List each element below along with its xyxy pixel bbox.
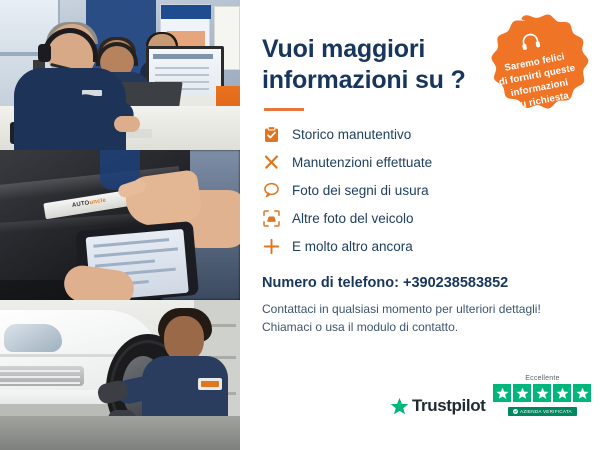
trustpilot-rating: Eccellente AZIENDA VERIFICATA <box>493 375 591 416</box>
star-filled <box>533 384 551 402</box>
scan-vehicle-icon <box>262 209 280 227</box>
feature-label: Foto dei segni di usura <box>292 183 429 198</box>
star-filled <box>513 384 531 402</box>
person-foreground <box>14 24 126 150</box>
contact-line-1: Contattaci in qualsiasi momento per ulte… <box>262 300 578 318</box>
clipboard-check-icon <box>262 125 280 143</box>
promo-card: AUTOuncle <box>0 0 600 450</box>
feature-label: Altre foto del veicolo <box>292 211 414 226</box>
feature-label: Storico manutentivo <box>292 127 411 142</box>
tools-cross-icon <box>262 153 280 171</box>
verified-label: AZIENDA VERIFICATA <box>520 409 572 414</box>
photo-call-center <box>0 0 240 150</box>
title-divider <box>264 108 304 111</box>
photo-wheel-check <box>0 300 240 450</box>
feature-label: Manutenzioni effettuate <box>292 155 432 170</box>
speech-bubble-icon <box>262 181 280 199</box>
list-item: E molto altro ancora <box>262 237 578 255</box>
trustpilot-name: Trustpilot <box>412 396 485 416</box>
trustpilot-logo: Trustpilot <box>390 396 485 416</box>
star-filled <box>573 384 591 402</box>
list-item: Manutenzioni effettuate <box>262 153 578 171</box>
content-panel: Vuoi maggiori informazioni su ? Storico … <box>240 0 600 450</box>
star-rating <box>493 384 591 402</box>
page-title: Vuoi maggiori informazioni su ? <box>262 34 477 95</box>
photo-column: AUTOuncle <box>0 0 240 450</box>
feature-list: Storico manutentivo Manutenzioni effettu… <box>262 125 578 255</box>
star-filled <box>493 384 511 402</box>
verified-badge: AZIENDA VERIFICATA <box>508 407 577 416</box>
trustpilot-star-icon <box>390 397 409 416</box>
lift-decor <box>0 416 240 450</box>
trustpilot-widget[interactable]: Trustpilot Eccellente AZIENDA VERIFICATA <box>390 375 591 416</box>
list-item: Foto dei segni di usura <box>262 181 578 199</box>
feature-label: E molto altro ancora <box>292 239 413 254</box>
rating-label: Eccellente <box>525 375 559 382</box>
photo-vehicle-inspection: AUTOuncle <box>0 150 240 300</box>
contact-line-2: Chiamaci o usa il modulo di contatto. <box>262 318 578 336</box>
plus-icon <box>262 237 280 255</box>
phone-number[interactable]: Numero di telefono: +390238583852 <box>262 275 578 291</box>
list-item: Altre foto del veicolo <box>262 209 578 227</box>
promo-badge: Saremo felici di fornirti queste informa… <box>468 2 600 138</box>
check-circle-icon <box>513 409 518 414</box>
star-filled <box>553 384 571 402</box>
contact-text: Contattaci in qualsiasi momento per ulte… <box>262 300 578 336</box>
